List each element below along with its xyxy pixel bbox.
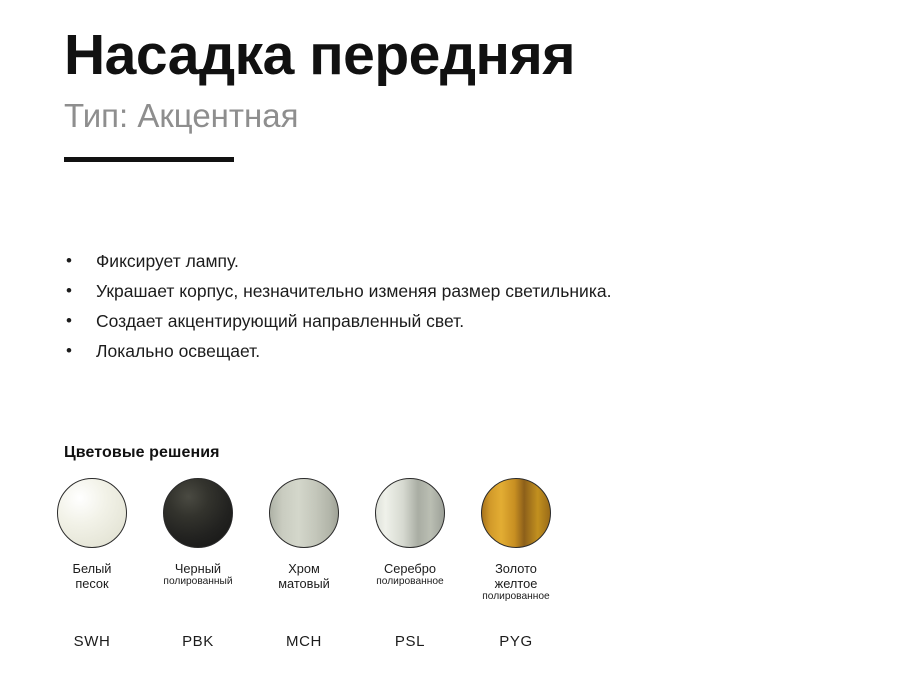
list-item: • Локально освещает.	[64, 336, 864, 366]
feature-list: • Фиксирует лампу. • Украшает корпус, не…	[64, 246, 864, 366]
bullet-icon: •	[66, 306, 72, 336]
color-swatch-pbk[interactable]: Черный полированный PBK	[162, 478, 234, 603]
bullet-icon: •	[66, 336, 72, 366]
swatch-name-line3: полированное	[482, 591, 549, 603]
color-swatch-pyg[interactable]: Золото желтое полированное PYG	[480, 478, 552, 603]
color-swatch-swh[interactable]: Белый песок SWH	[56, 478, 128, 603]
swatch-name-line2: полированный	[163, 576, 232, 588]
swatch-code: SWH	[74, 633, 111, 650]
swatch-labels: Белый песок	[73, 561, 112, 591]
list-item: • Создает акцентирующий направленный све…	[64, 306, 864, 336]
swatch-name-line2: желтое	[482, 576, 549, 591]
swatch-name-line2: песок	[73, 576, 112, 591]
slide-canvas: Насадка передняя Тип: Акцентная • Фиксир…	[0, 0, 900, 700]
color-swatch-mch[interactable]: Хром матовый MCH	[268, 478, 340, 603]
list-item: • Фиксирует лампу.	[64, 246, 864, 276]
swatch-name-line1: Серебро	[376, 561, 443, 576]
swatch-labels: Золото желтое полированное	[482, 561, 549, 603]
list-item-text: Украшает корпус, незначительно изменяя р…	[96, 281, 611, 301]
page-subtitle: Тип: Акцентная	[64, 96, 854, 136]
swatch-circle-icon[interactable]	[269, 478, 339, 548]
swatch-name-line1: Хром	[278, 561, 330, 576]
swatch-circle-icon[interactable]	[481, 478, 551, 548]
color-swatch-psl[interactable]: Серебро полированное PSL	[374, 478, 446, 603]
swatch-labels: Серебро полированное	[376, 561, 443, 588]
list-item: • Украшает корпус, незначительно изменяя…	[64, 276, 864, 306]
swatch-code: PYG	[499, 633, 532, 650]
swatch-code: MCH	[286, 633, 322, 650]
swatch-circle-icon[interactable]	[163, 478, 233, 548]
swatch-name-line1: Белый	[73, 561, 112, 576]
bullet-icon: •	[66, 246, 72, 276]
swatch-labels: Хром матовый	[278, 561, 330, 591]
swatch-name-line1: Золото	[482, 561, 549, 576]
color-swatch-row: Белый песок SWH Черный полированный PBK …	[56, 478, 552, 603]
colors-section-heading: Цветовые решения	[64, 444, 220, 462]
list-item-text: Локально освещает.	[96, 341, 260, 361]
swatch-circle-icon[interactable]	[57, 478, 127, 548]
page-title: Насадка передняя	[64, 26, 854, 86]
bullet-icon: •	[66, 276, 72, 306]
swatch-name-line2: матовый	[278, 576, 330, 591]
swatch-code: PBK	[182, 633, 214, 650]
title-divider	[64, 157, 234, 162]
header: Насадка передняя Тип: Акцентная	[64, 26, 854, 162]
list-item-text: Создает акцентирующий направленный свет.	[96, 311, 464, 331]
swatch-name-line1: Черный	[163, 561, 232, 576]
swatch-code: PSL	[395, 633, 425, 650]
swatch-circle-icon[interactable]	[375, 478, 445, 548]
list-item-text: Фиксирует лампу.	[96, 251, 239, 271]
swatch-labels: Черный полированный	[163, 561, 232, 588]
swatch-name-line2: полированное	[376, 576, 443, 588]
